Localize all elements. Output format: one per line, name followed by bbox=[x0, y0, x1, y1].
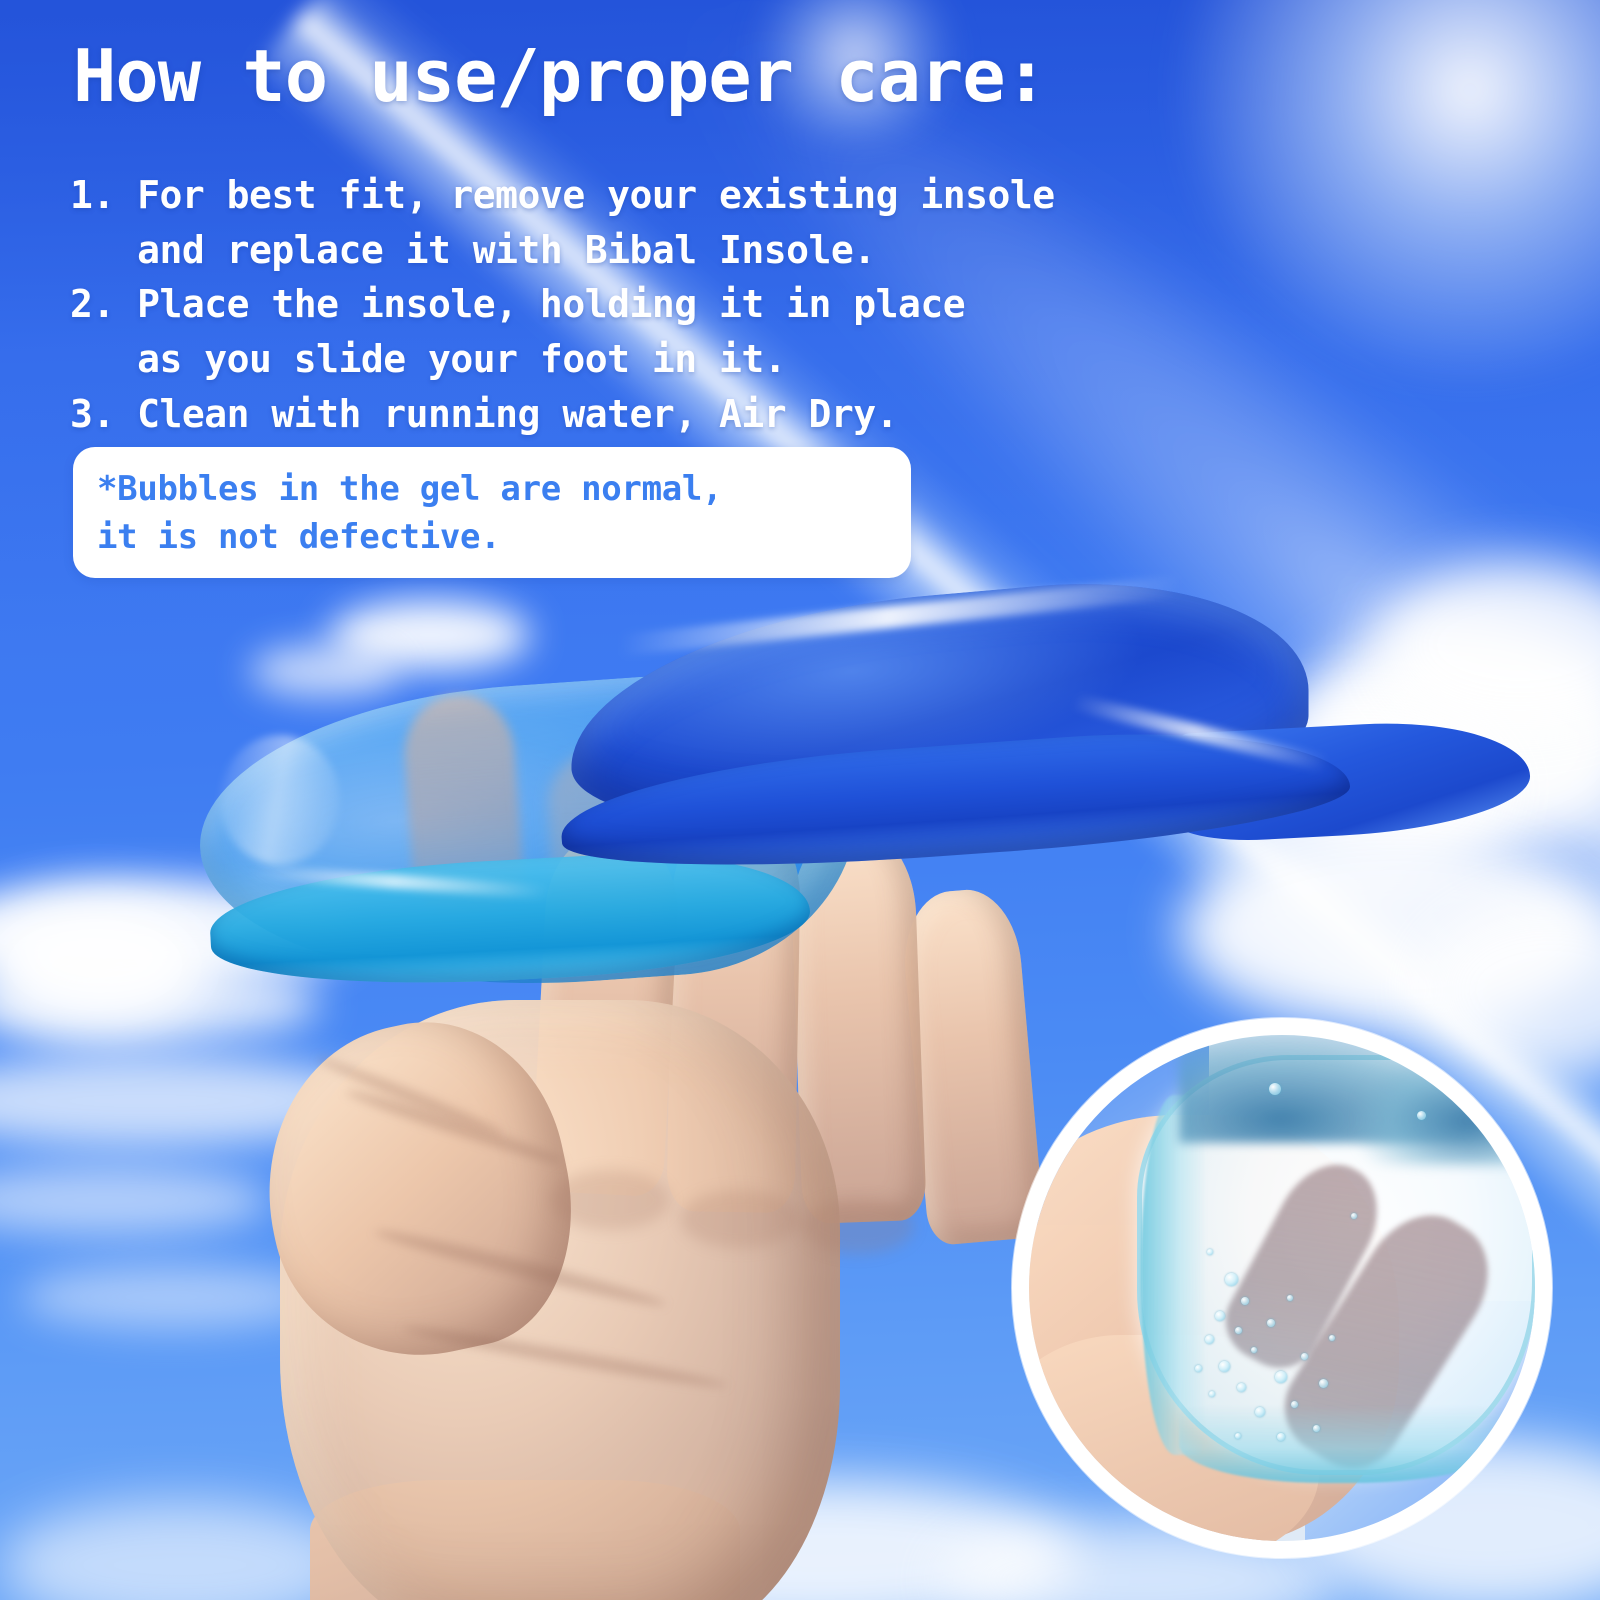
gel-bubble bbox=[1319, 1379, 1328, 1388]
instruction-line: 3. Clean with running water, Air Dry. bbox=[70, 387, 1055, 442]
gel-bubble bbox=[1207, 1249, 1213, 1255]
gel-bubble bbox=[1275, 1371, 1287, 1383]
gel-insole-product bbox=[190, 575, 1370, 975]
instruction-line: and replace it with Bibal Insole. bbox=[70, 223, 1055, 278]
gel-bubble bbox=[1219, 1361, 1230, 1372]
gel-bubble bbox=[1267, 1319, 1275, 1327]
gel-bubble bbox=[1351, 1213, 1357, 1219]
page-title: How to use/proper care: bbox=[73, 40, 1047, 112]
note-callout-box: *Bubbles in the gel are normal, it is no… bbox=[73, 447, 911, 578]
infographic-canvas: How to use/proper care: 1. For best fit,… bbox=[0, 0, 1600, 1600]
knuckle-shadow-3 bbox=[802, 1198, 914, 1254]
gel-bubble bbox=[1277, 1433, 1285, 1441]
knuckle-shadow-1 bbox=[550, 1170, 670, 1230]
closeup-inset-content bbox=[1029, 1035, 1535, 1541]
gel-bubble bbox=[1251, 1347, 1257, 1353]
instruction-line: as you slide your foot in it. bbox=[70, 332, 1055, 387]
gel-bubble bbox=[1417, 1111, 1426, 1120]
gel-bubble bbox=[1237, 1383, 1246, 1392]
inset-gel-dark-top-2 bbox=[1359, 1055, 1552, 1165]
gel-bubble bbox=[1287, 1295, 1293, 1301]
gel-bubble bbox=[1235, 1327, 1242, 1334]
gel-bubble bbox=[1215, 1311, 1225, 1321]
instruction-list: 1. For best fit, remove your existing in… bbox=[70, 168, 1055, 442]
gel-bubble bbox=[1255, 1407, 1265, 1417]
inset-gel-left-edge bbox=[1141, 1095, 1207, 1455]
gel-bubble bbox=[1329, 1335, 1335, 1341]
note-line: *Bubbles in the gel are normal, bbox=[97, 465, 722, 513]
insole-highlight-4 bbox=[220, 735, 340, 865]
gel-bubble bbox=[1301, 1353, 1308, 1360]
gel-bubble bbox=[1225, 1273, 1238, 1286]
gel-bubble bbox=[1235, 1433, 1241, 1439]
gel-bubble bbox=[1195, 1365, 1202, 1372]
inset-gel-bottom-edge bbox=[1179, 1405, 1509, 1483]
note-callout-text: *Bubbles in the gel are normal, it is no… bbox=[97, 465, 722, 562]
gel-bubble bbox=[1291, 1401, 1298, 1408]
gel-bubble bbox=[1205, 1335, 1214, 1344]
instruction-line: 2. Place the insole, holding it in place bbox=[70, 277, 1055, 332]
closeup-inset-circle bbox=[1012, 1018, 1552, 1558]
gel-bubble bbox=[1241, 1297, 1249, 1305]
knuckle-shadow-2 bbox=[680, 1190, 800, 1248]
instruction-line: 1. For best fit, remove your existing in… bbox=[70, 168, 1055, 223]
note-line: it is not defective. bbox=[97, 513, 722, 561]
gel-bubble bbox=[1313, 1425, 1320, 1432]
gel-bubble bbox=[1269, 1083, 1281, 1095]
gel-bubble bbox=[1209, 1391, 1215, 1397]
